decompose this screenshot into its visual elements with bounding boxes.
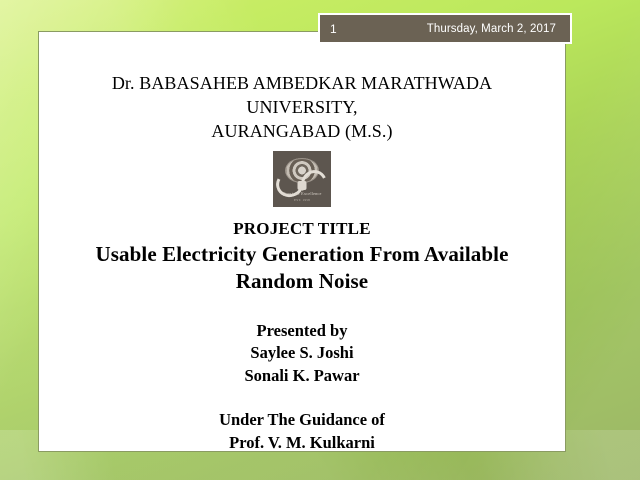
emblem-center-icon [298, 181, 307, 190]
presented-by-heading: Presented by [60, 320, 544, 343]
organization-line-2: UNIVERSITY, [60, 95, 544, 119]
presented-by-block: Presented by Saylee S. Joshi Sonali K. P… [60, 320, 544, 388]
guidance-heading: Under The Guidance of [60, 409, 544, 432]
project-title-line-2: Random Noise [60, 268, 544, 295]
presentation-slide: 1 Thursday, March 2, 2017 Dr. BABASAHEB … [0, 0, 640, 480]
presenter-name-1: Saylee S. Joshi [60, 342, 544, 365]
university-emblem-icon: Quest for Excellence EST. 1958 [273, 151, 331, 207]
emblem-subtext: EST. 1958 [273, 198, 331, 202]
project-title: Usable Electricity Generation From Avail… [60, 241, 544, 294]
logo-container: Quest for Excellence EST. 1958 [60, 151, 544, 207]
organization-block: Dr. BABASAHEB AMBEDKAR MARATHWADA UNIVER… [60, 71, 544, 143]
organization-line-3: AURANGABAD (M.S.) [60, 119, 544, 143]
presenter-name-2: Sonali K. Pawar [60, 365, 544, 388]
organization-line-1: Dr. BABASAHEB AMBEDKAR MARATHWADA [60, 71, 544, 95]
guide-name: Prof. V. M. Kulkarni [60, 432, 544, 455]
project-title-line-1: Usable Electricity Generation From Avail… [60, 241, 544, 268]
emblem-motto: Quest for Excellence [273, 191, 331, 196]
guidance-block: Under The Guidance of Prof. V. M. Kulkar… [60, 409, 544, 454]
slide-body: Dr. BABASAHEB AMBEDKAR MARATHWADA UNIVER… [38, 31, 566, 452]
project-title-label: PROJECT TITLE [60, 219, 544, 239]
